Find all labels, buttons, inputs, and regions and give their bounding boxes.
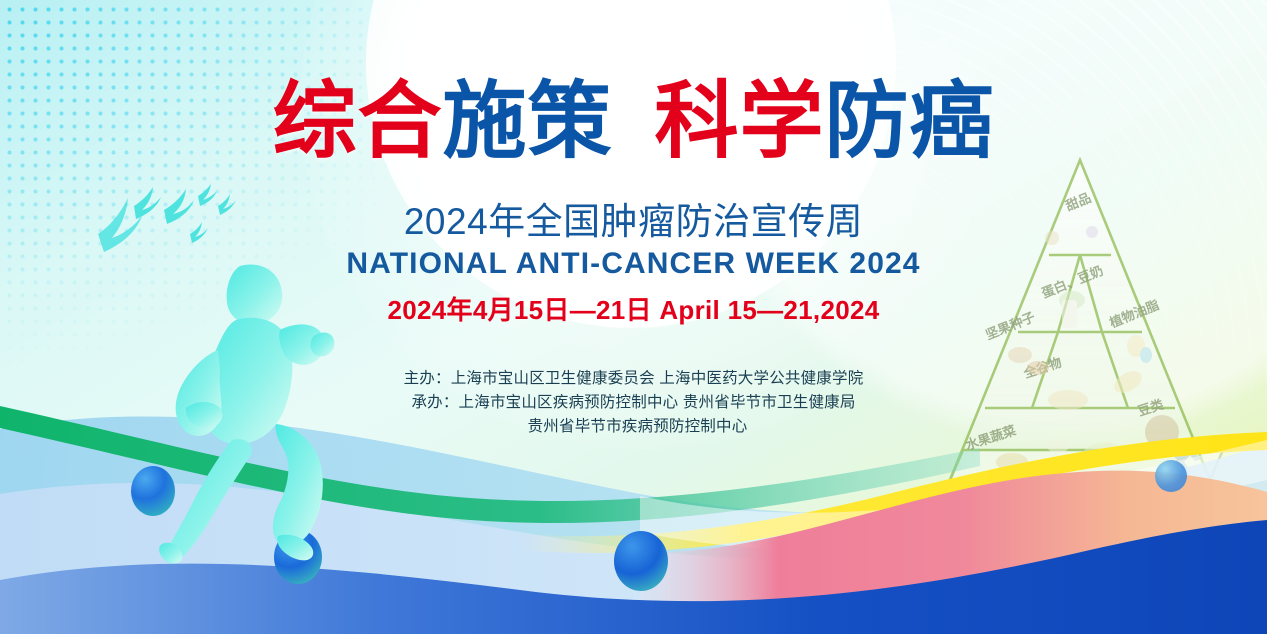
- poster-text-content: 综合施策科学防癌 2024年全国肿瘤防治宣传周 NATIONAL ANTI-CA…: [0, 0, 1267, 634]
- title-segment-2: 施策: [442, 72, 612, 170]
- campaign-banner: 甜品 蛋白、豆奶 坚果种子 植物油脂 全谷物 豆类 水果蔬菜 每天运动: [0, 0, 1267, 634]
- credit-line-coorganizer: 贵州省毕节市疾病预防控制中心: [0, 415, 1267, 439]
- title-segment-1: 综合: [272, 72, 442, 170]
- credit-line-organizer: 承办：上海市宝山区疾病预防控制中心 贵州省毕节市卫生健康局: [0, 391, 1267, 415]
- organizer-credits: 主办：上海市宝山区卫生健康委员会 上海中医药大学公共健康学院 承办：上海市宝山区…: [0, 367, 1267, 439]
- title-segment-4: 防癌: [825, 72, 995, 170]
- title-segment-3: 科学: [655, 72, 825, 170]
- subtitle-chinese: 2024年全国肿瘤防治宣传周: [0, 200, 1267, 244]
- subtitle-english: NATIONAL ANTI-CANCER WEEK 2024: [0, 246, 1267, 282]
- credit-line-host: 主办：上海市宝山区卫生健康委员会 上海中医药大学公共健康学院: [0, 367, 1267, 391]
- event-date-range: 2024年4月15日—21日 April 15—21,2024: [0, 294, 1267, 326]
- main-title: 综合施策科学防癌: [0, 78, 1267, 164]
